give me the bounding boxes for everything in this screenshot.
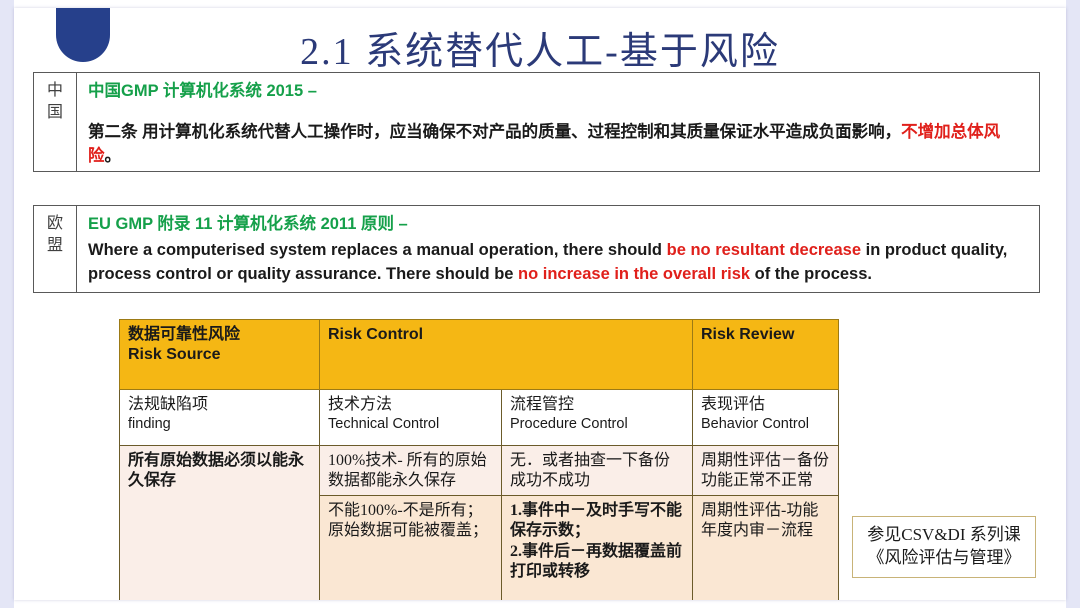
subheader-cell-technical: 技术方法 Technical Control xyxy=(320,390,502,446)
cell-procedure-row1: 无．或者抽查一下备份成功不成功 xyxy=(502,446,693,496)
cell-technical-row1: 100%技术- 所有的原始数据都能永久保存 xyxy=(320,446,502,496)
slide-background: 2.1 系统替代人工-基于风险 中 国 中国GMP 计算机化系统 2015 – … xyxy=(0,0,1080,608)
subheader-behavior-en: Behavior Control xyxy=(701,415,831,433)
quote-text-china: 第二条 用计算机化系统代替人工操作时，应当确保不对产品的质量、过程控制和其质量保… xyxy=(88,121,1029,169)
header-risk-control-en: Risk Control xyxy=(328,325,685,345)
quote-text-eu: Where a computerised system replaces a m… xyxy=(88,239,1029,287)
header-cell-risk-source: 数据可靠性风险 Risk Source xyxy=(120,320,320,390)
risk-matrix-table: 数据可靠性风险 Risk Source Risk Control Risk Re… xyxy=(119,319,839,600)
header-cell-risk-control: Risk Control xyxy=(320,320,693,390)
cell-behavior-row2: 周期性评估-功能年度内审－流程 xyxy=(693,496,839,600)
table-header-row: 数据可靠性风险 Risk Source Risk Control Risk Re… xyxy=(120,320,839,390)
cell-procedure-row2: 1.事件中－及时手写不能保存示数； 2.事件后－再数据覆盖前打印或转移 xyxy=(502,496,693,600)
header-cell-risk-review: Risk Review xyxy=(693,320,839,390)
subheader-technical-cn: 技术方法 xyxy=(328,395,494,415)
quote-box-china: 中 国 中国GMP 计算机化系统 2015 – 第二条 用计算机化系统代替人工操… xyxy=(33,72,1040,172)
quote-tag-china-line1: 中 xyxy=(47,80,63,102)
subheader-behavior-cn: 表现评估 xyxy=(701,395,831,415)
subheader-technical-en: Technical Control xyxy=(328,415,494,433)
quote-body-china: 中国GMP 计算机化系统 2015 – 第二条 用计算机化系统代替人工操作时，应… xyxy=(77,73,1039,171)
quote-text-eu-part1: Where a computerised system replaces a m… xyxy=(88,241,667,259)
cell-finding-permanent-retention: 所有原始数据必须以能永久保存 xyxy=(120,446,320,601)
subheader-finding-en: finding xyxy=(128,415,312,433)
subheader-finding-cn: 法规缺陷项 xyxy=(128,395,312,415)
quote-text-china-part1: 第二条 用计算机化系统代替人工操作时，应当确保不对产品的质量、过程控制和其质量保… xyxy=(88,123,901,141)
cell-technical-row2: 不能100%-不是所有；原始数据可能被覆盖； xyxy=(320,496,502,600)
quote-tag-eu-line2: 盟 xyxy=(47,235,63,257)
page-title: 2.1 系统替代人工-基于风险 xyxy=(14,20,1066,75)
header-risk-review-en: Risk Review xyxy=(701,325,831,345)
table-row: 所有原始数据必须以能永久保存 100%技术- 所有的原始数据都能永久保存 无．或… xyxy=(120,446,839,496)
slide-canvas: 2.1 系统替代人工-基于风险 中 国 中国GMP 计算机化系统 2015 – … xyxy=(14,8,1066,600)
quote-body-eu: EU GMP 附录 11 计算机化系统 2011 原则 – Where a co… xyxy=(77,206,1039,292)
quote-heading-eu: EU GMP 附录 11 计算机化系统 2011 原则 – xyxy=(88,212,1029,237)
quote-heading-china: 中国GMP 计算机化系统 2015 – xyxy=(88,79,1029,104)
quote-tag-eu: 欧 盟 xyxy=(34,206,77,292)
callout-line-2: 《风险评估与管理》 xyxy=(857,546,1031,569)
subheader-cell-procedure: 流程管控 Procedure Control xyxy=(502,390,693,446)
quote-text-eu-highlight2: no increase in the overall risk xyxy=(518,265,750,283)
quote-text-china-part2: 。 xyxy=(105,147,122,165)
table-subheader-row: 法规缺陷项 finding 技术方法 Technical Control 流程管… xyxy=(120,390,839,446)
subheader-cell-finding: 法规缺陷项 finding xyxy=(120,390,320,446)
reference-callout-box: 参见CSV&DI 系列课 《风险评估与管理》 xyxy=(852,516,1036,578)
quote-tag-eu-line1: 欧 xyxy=(47,213,63,235)
quote-tag-china: 中 国 xyxy=(34,73,77,171)
cell-behavior-row1: 周期性评估－备份功能正常不正常 xyxy=(693,446,839,496)
subheader-procedure-en: Procedure Control xyxy=(510,415,685,433)
header-risk-source-cn: 数据可靠性风险 xyxy=(128,325,312,345)
quote-tag-china-line2: 国 xyxy=(47,102,63,124)
quote-text-eu-highlight1: be no resultant decrease xyxy=(667,241,861,259)
subheader-procedure-cn: 流程管控 xyxy=(510,395,685,415)
quote-text-eu-part3: of the process. xyxy=(750,265,872,283)
callout-line-1: 参见CSV&DI 系列课 xyxy=(857,523,1031,546)
subheader-cell-behavior: 表现评估 Behavior Control xyxy=(693,390,839,446)
header-risk-source-en: Risk Source xyxy=(128,345,312,365)
quote-box-eu: 欧 盟 EU GMP 附录 11 计算机化系统 2011 原则 – Where … xyxy=(33,205,1040,293)
